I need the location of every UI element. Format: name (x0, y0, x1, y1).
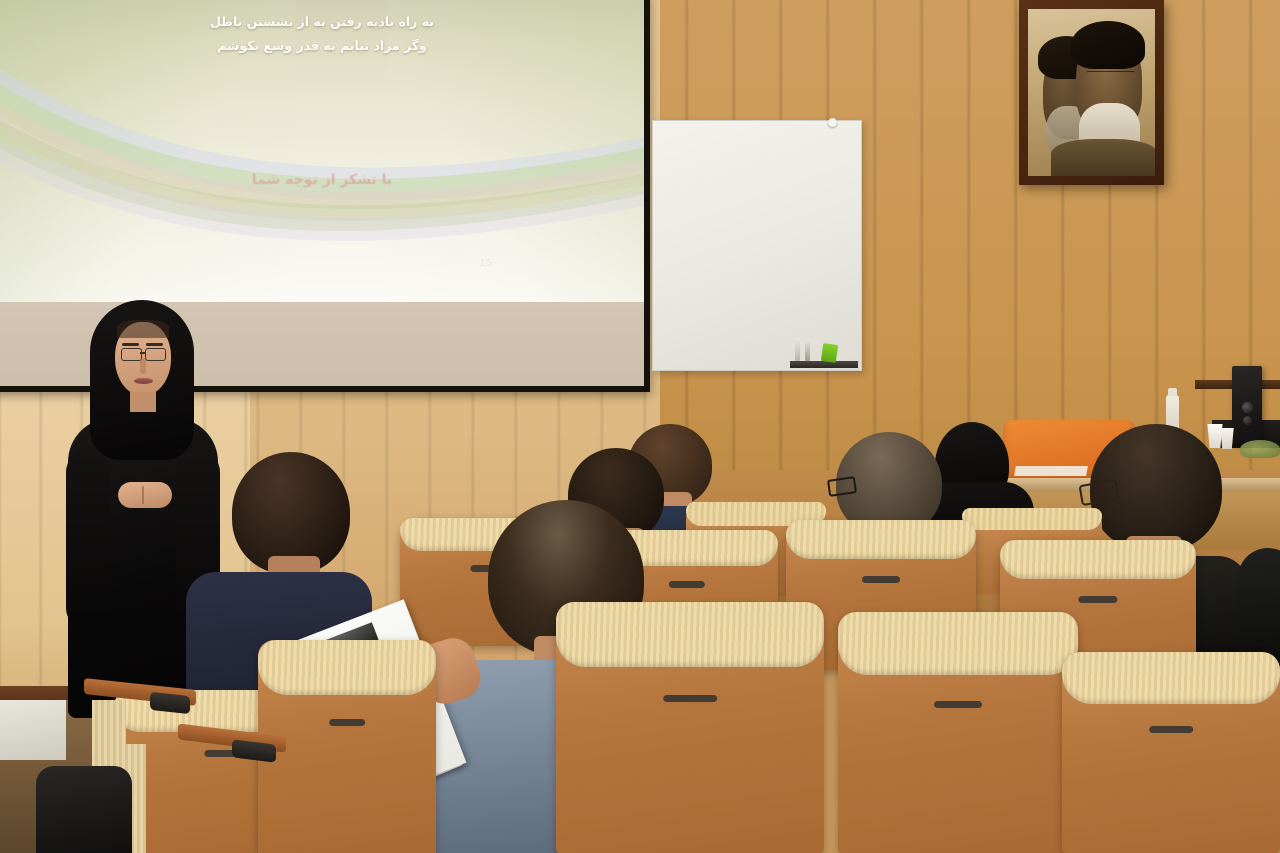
whiteboard-ledge (790, 361, 858, 368)
presenter-eyebrow (146, 343, 163, 346)
presenter-neck (130, 392, 156, 412)
auditorium-chair (1062, 652, 1280, 853)
slide-thanks-text: با تشکر از توجه شما (0, 172, 644, 188)
whiteboard (652, 120, 862, 371)
chair-seat-cushion (36, 766, 132, 853)
presenter-glasses-icon (121, 348, 142, 361)
portrait-shoulders (1051, 139, 1155, 176)
presenter-nose (140, 358, 146, 374)
conference-hall-photo: به راه بادیه رفتن به از نشستن باطل وگر م… (0, 0, 1280, 853)
presenter-mouth (134, 378, 153, 384)
chair-back-panel (0, 700, 66, 760)
presenter-hand-detail (142, 486, 144, 504)
papers-on-table (1014, 466, 1088, 476)
presenter-eyebrow (122, 343, 139, 346)
whiteboard-eraser-icon (821, 343, 838, 363)
whiteboard-mount-knob (828, 118, 837, 127)
presentation-slide: به راه بادیه رفتن به از نشستن باطل وگر م… (0, 0, 644, 302)
auditorium-chair (838, 612, 1078, 853)
auditorium-chair (556, 602, 824, 853)
water-bottle-cap (1168, 388, 1177, 396)
framed-portrait (1019, 0, 1164, 185)
plant (1240, 440, 1280, 458)
speaker-driver-icon (1242, 402, 1253, 413)
slide-quote: به راه بادیه رفتن به از نشستن باطل وگر م… (0, 10, 644, 59)
presenter-left-arm (66, 450, 110, 630)
whiteboard-marker (795, 338, 800, 361)
portrait-figure-front-turban (1071, 21, 1145, 69)
portrait-image (1028, 9, 1155, 176)
presenter-glasses-icon (145, 348, 166, 361)
presenter-glasses-bridge (140, 352, 146, 354)
slide-quote-line1: به راه بادیه رفتن به از نشستن باطل (0, 10, 644, 34)
speaker-driver-icon (1243, 416, 1252, 425)
slide-quote-line2: وگر مراد نیابم به قدر وسع بکوشم (0, 34, 644, 58)
presenter-clasped-hands (118, 482, 172, 508)
slide-number: 15 (479, 258, 492, 269)
portrait-glasses-icon (1086, 71, 1134, 84)
presenter-hair (117, 320, 169, 338)
whiteboard-marker (805, 341, 810, 361)
